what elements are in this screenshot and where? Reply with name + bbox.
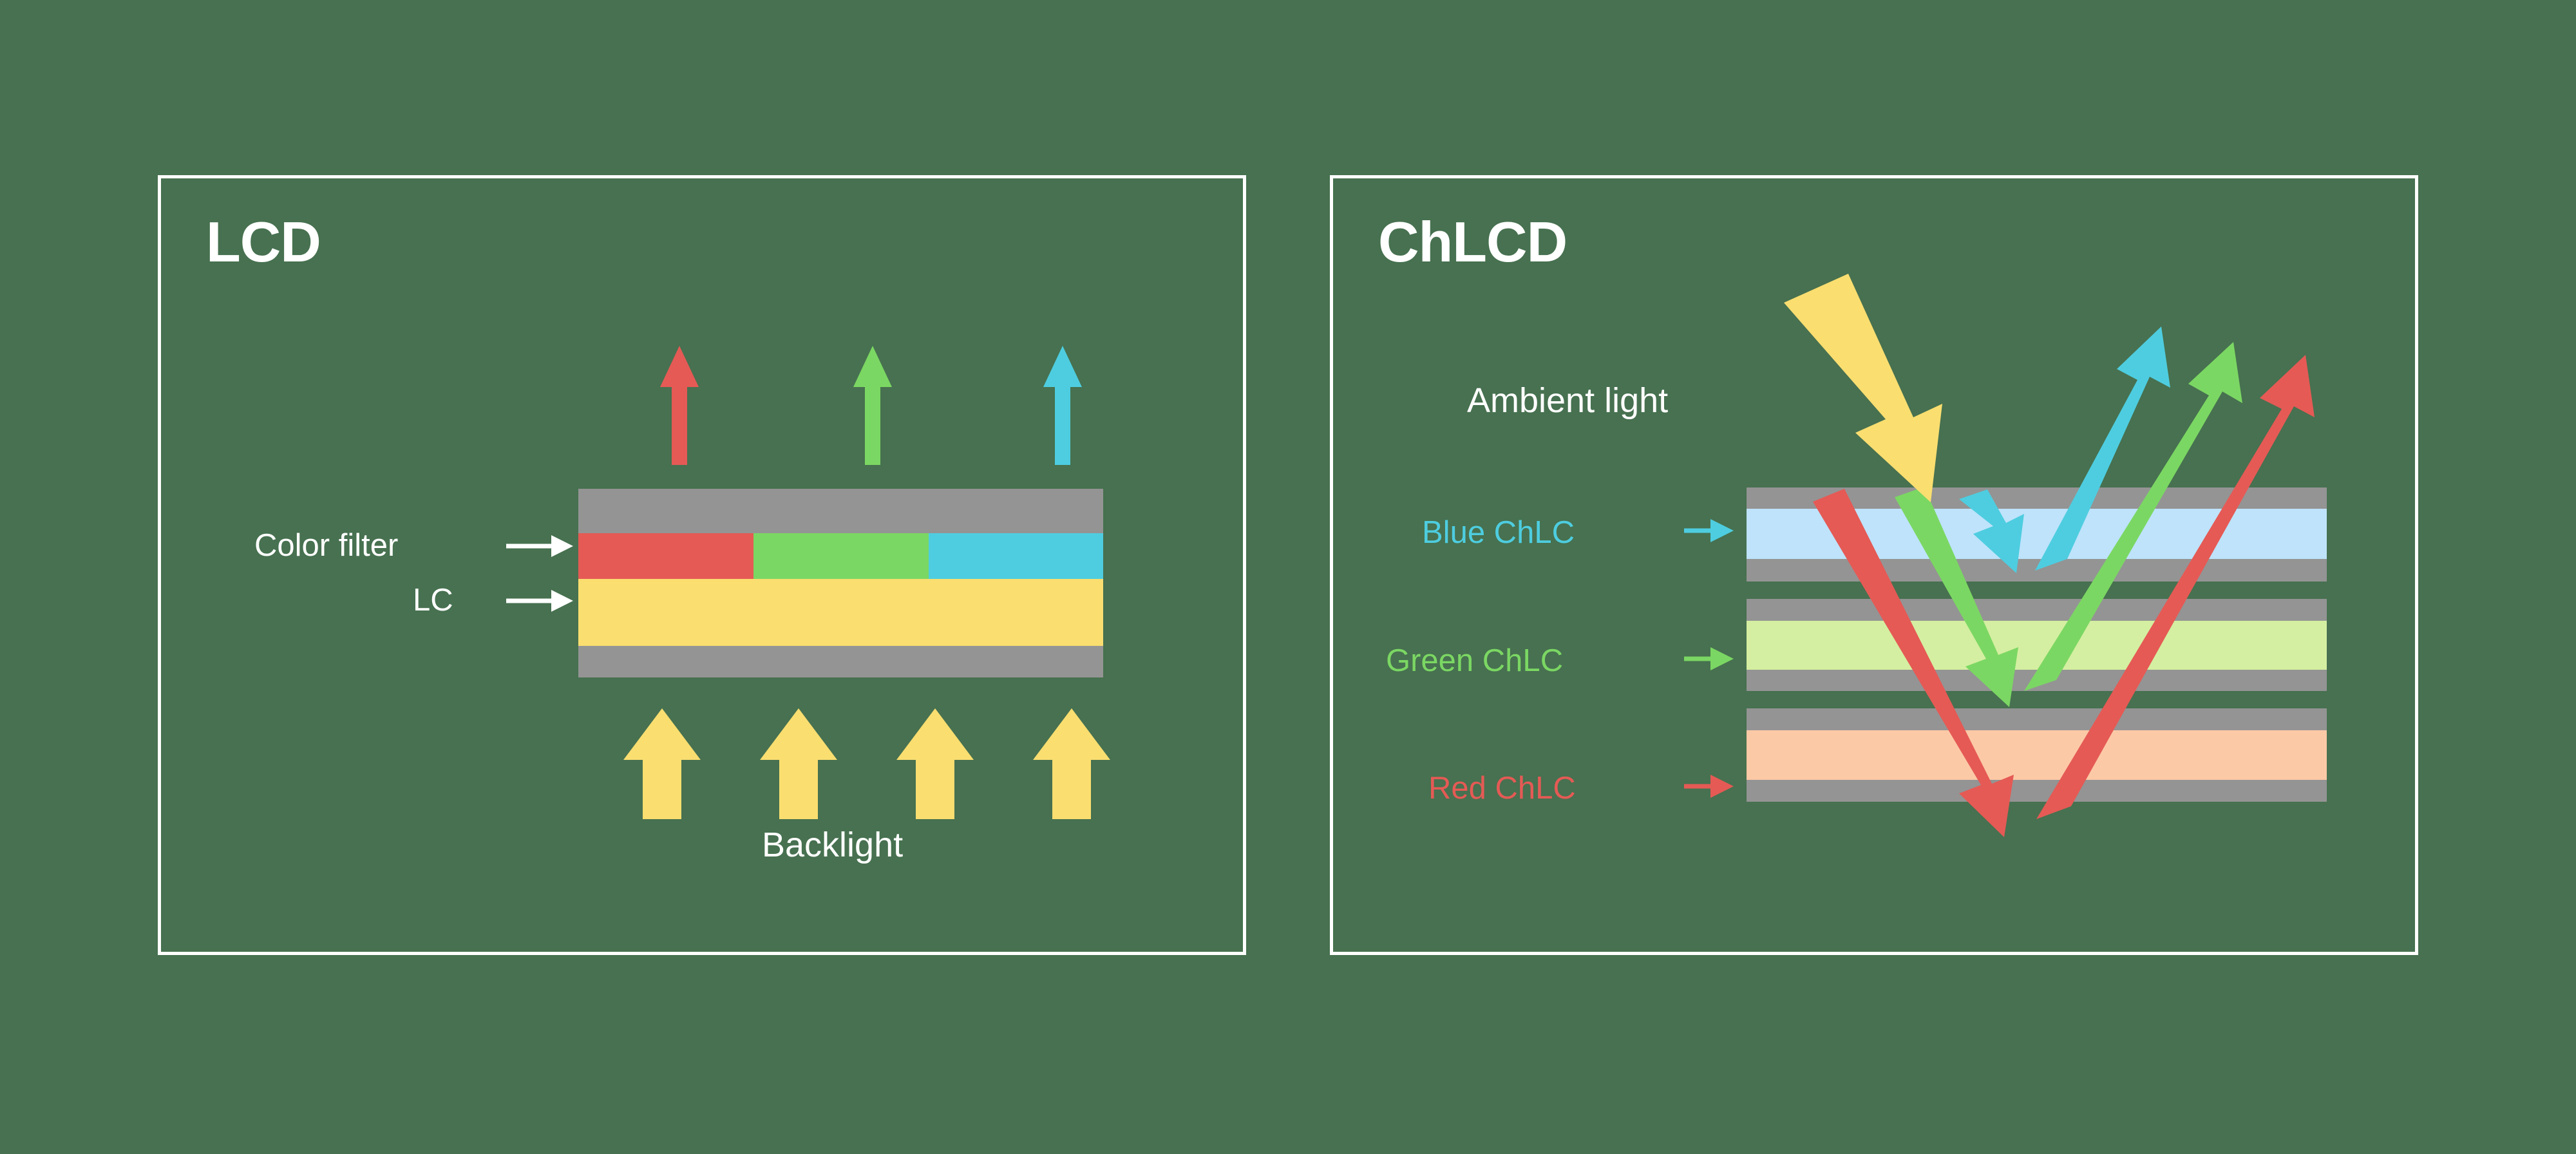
label-red-chlc: Red ChLC [1428,773,1576,804]
label-ambient-light: Ambient light [1467,383,1668,418]
label-blue-chlc: Blue ChLC [1422,517,1575,549]
label-green-chlc: Green ChLC [1386,645,1563,677]
panel-title-lcd: LCD [206,214,321,270]
label-color-filter: Color filter [254,530,398,562]
panel-lcd: LCD [158,175,1246,955]
label-backlight: Backlight [762,828,903,862]
panel-chlcd: ChLCD [1330,175,2418,955]
panel-title-chlcd: ChLCD [1378,214,1567,270]
label-lc: LC [413,585,453,616]
